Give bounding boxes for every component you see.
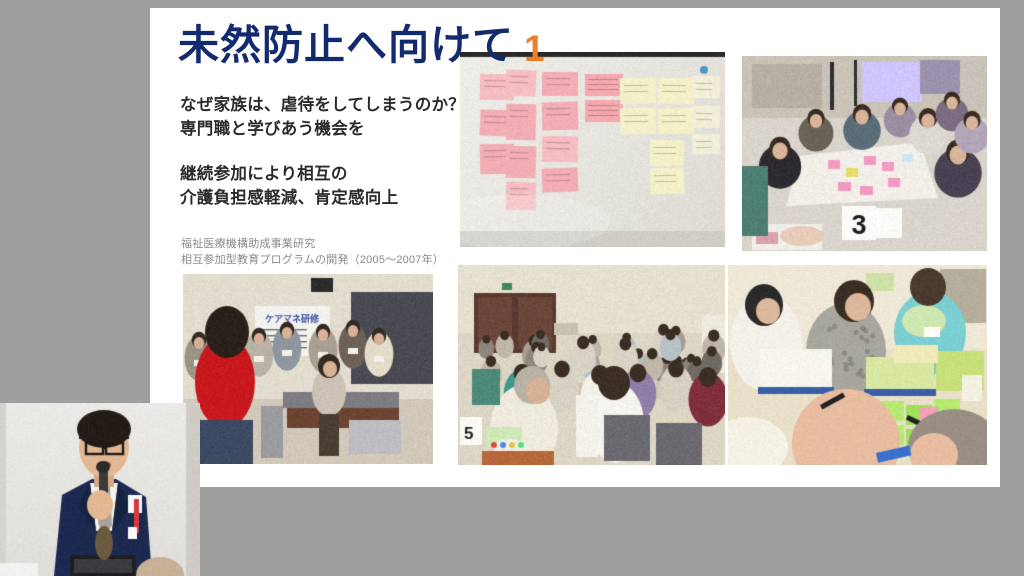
photo-crowded-seminar-room — [458, 265, 725, 465]
page-title-text: 未然防止へ向けて — [178, 22, 514, 68]
presenter-video-pip — [0, 403, 200, 576]
presentation-slide: 未然防止へ向けて1 なぜ家族は、虐待をしてしまうのか？ 専門職と学びあう機会を … — [150, 8, 1000, 487]
body-block-question: なぜ家族は、虐待をしてしまうのか？ 専門職と学びあう機会を — [180, 94, 465, 142]
footnote-line: 福祉医療機構助成事業研究 — [181, 237, 444, 253]
body-line: 専門職と学びあう機会を — [180, 118, 465, 142]
page-title: 未然防止へ向けて1 — [178, 25, 546, 66]
photo-closeup-green-notes — [728, 265, 987, 465]
photo-group-workshop-table — [742, 56, 987, 251]
body-line: 継続参加により相互の — [180, 163, 398, 187]
body-block-outcome: 継続参加により相互の 介護負担感軽減、肯定感向上 — [180, 163, 398, 211]
body-line: 介護負担感軽減、肯定感向上 — [180, 187, 398, 211]
body-line: なぜ家族は、虐待をしてしまうのか？ — [180, 94, 465, 118]
photo-care-bed-training — [183, 274, 433, 464]
photo-whiteboard-sticky-notes — [460, 52, 725, 247]
screen-backdrop: 未然防止へ向けて1 なぜ家族は、虐待をしてしまうのか？ 専門職と学びあう機会を … — [0, 0, 1024, 576]
page-title-number: 1 — [524, 28, 546, 69]
footnote-source: 福祉医療機構助成事業研究 相互参加型教育プログラムの開発（2005〜2007年） — [181, 237, 444, 269]
footnote-line: 相互参加型教育プログラムの開発（2005〜2007年） — [181, 253, 444, 269]
